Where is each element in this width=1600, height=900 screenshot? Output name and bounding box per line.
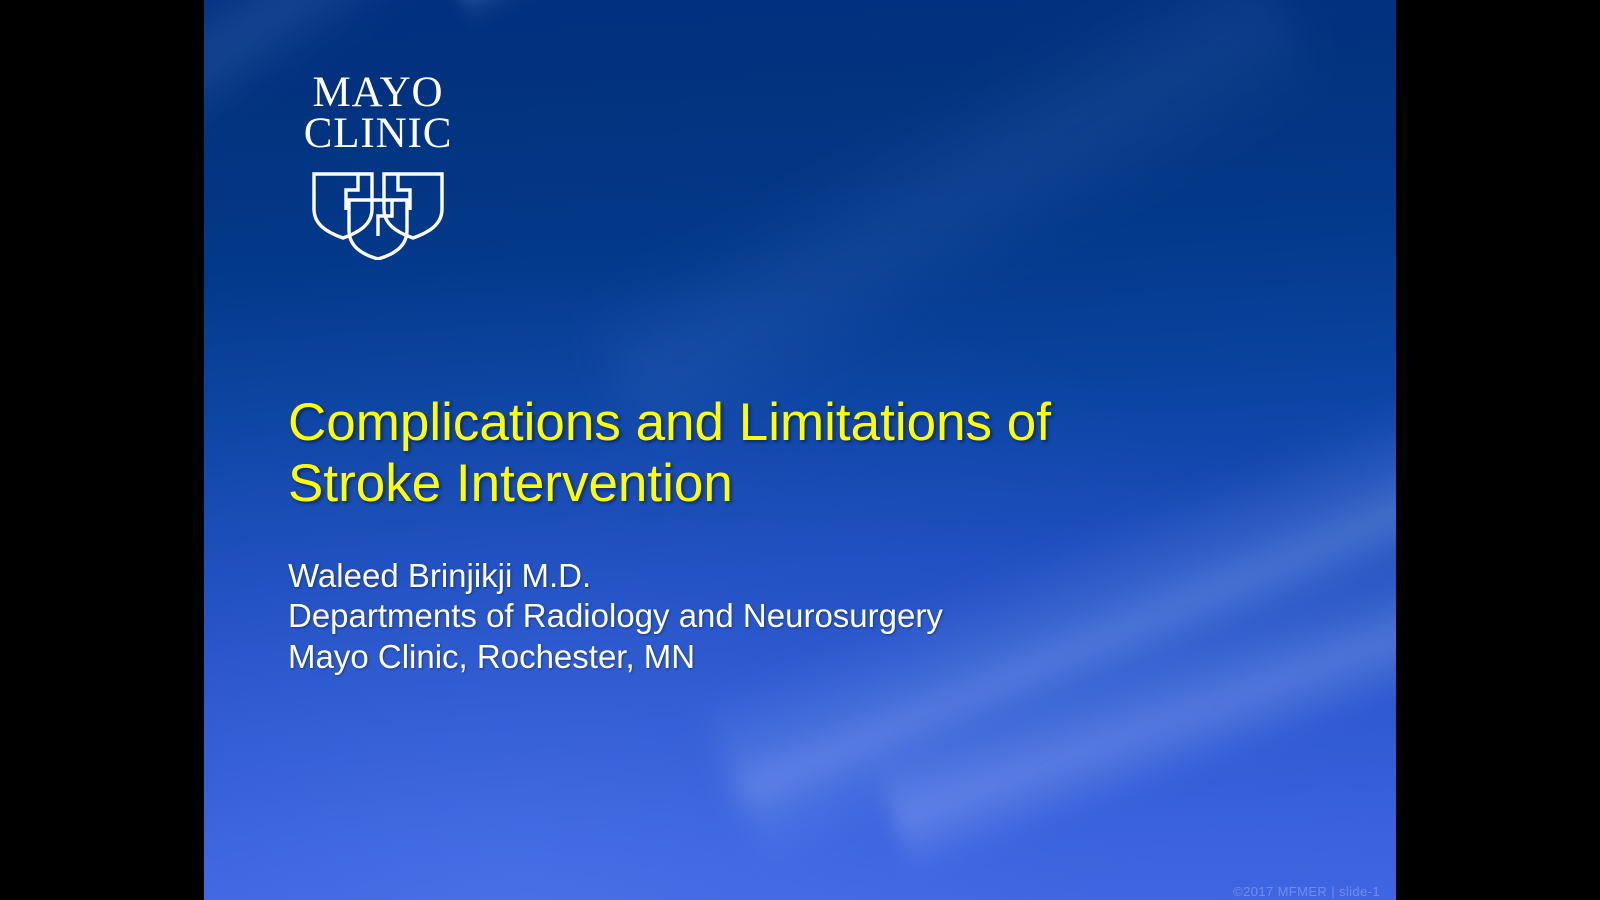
slide-subtitle: Waleed Brinjikji M.D. Departments of Rad… xyxy=(288,556,1288,677)
slide-title: Complications and Limitations of Stroke … xyxy=(288,392,1288,515)
presenter-name: Waleed Brinjikji M.D. xyxy=(288,556,1288,596)
background-swoosh-top xyxy=(204,0,1130,15)
slide-title-line-2: Stroke Intervention xyxy=(288,453,1288,514)
background-swoosh-top-highlight xyxy=(434,0,1099,25)
slide-footer-copyright: ©2017 MFMER | slide-1 xyxy=(1233,884,1380,899)
triple-shield-icon xyxy=(288,164,468,260)
background-swoosh-bottom-highlight xyxy=(873,497,1396,877)
video-frame: MAYO CLINIC xyxy=(0,0,1600,900)
logo-wordmark-mayo: MAYO xyxy=(288,72,468,113)
presentation-slide: MAYO CLINIC xyxy=(204,0,1396,900)
logo-wordmark-clinic: CLINIC xyxy=(288,113,468,154)
mayo-clinic-logo: MAYO CLINIC xyxy=(288,72,468,265)
slide-title-line-1: Complications and Limitations of xyxy=(288,392,1288,453)
pillarbox-right xyxy=(1396,0,1600,900)
pillarbox-left xyxy=(0,0,204,900)
presenter-institution: Mayo Clinic, Rochester, MN xyxy=(288,637,1288,677)
presenter-departments: Departments of Radiology and Neurosurger… xyxy=(288,596,1288,636)
